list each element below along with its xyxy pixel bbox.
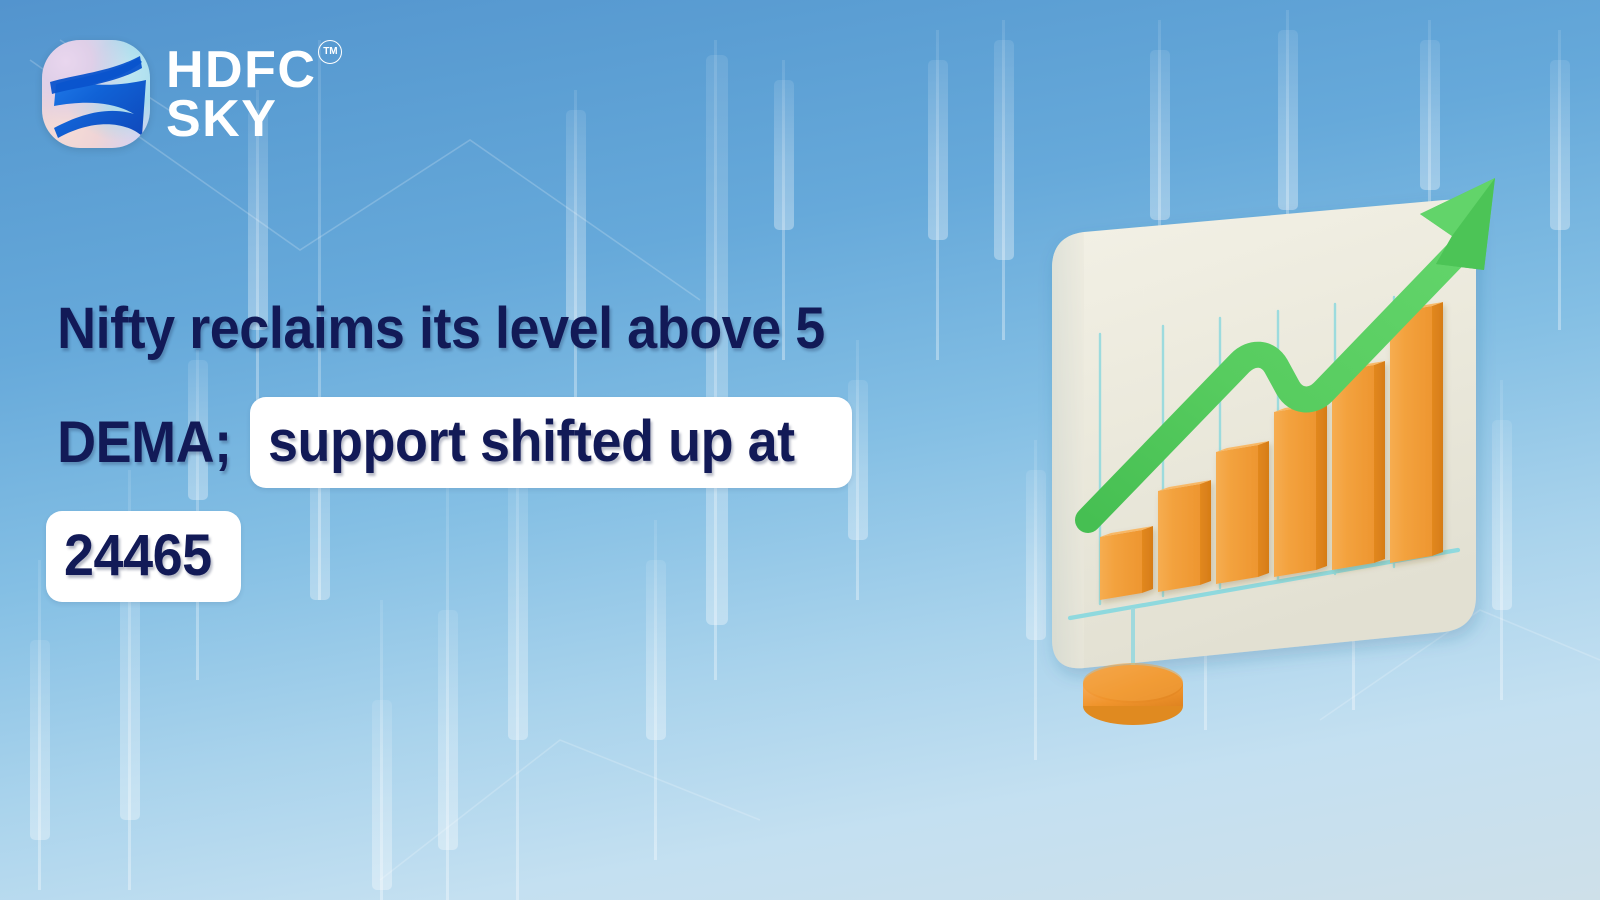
headline-line-3: 24465 <box>46 510 986 602</box>
chart-bar <box>1158 480 1211 592</box>
headline-line2-highlight-text: support shifted up at <box>268 408 795 475</box>
headline-line1-text: Nifty reclaims its level above 5 <box>46 295 825 362</box>
growth-chart-illustration <box>990 140 1550 740</box>
chart-bar <box>1216 441 1269 584</box>
brand-logo[interactable]: HDFC SKY TM <box>42 40 316 148</box>
headline-block: Nifty reclaims its level above 5 DEMA; s… <box>46 282 986 624</box>
chart-bar <box>1100 526 1153 600</box>
chart-bar <box>1390 302 1443 563</box>
brand-name-line1: HDFC <box>166 46 316 95</box>
brand-wordmark: HDFC SKY TM <box>166 44 316 144</box>
headline-highlight-chip-1: support shifted up at <box>250 397 852 488</box>
support-level-value: 24465 <box>64 522 212 589</box>
headline-line-1: Nifty reclaims its level above 5 <box>46 282 986 374</box>
hdfc-sky-swoosh-logo-icon <box>42 40 150 148</box>
headline-line-2: DEMA; support shifted up at <box>46 396 986 488</box>
headline-highlight-chip-2: 24465 <box>46 511 241 602</box>
headline-line2-plain-text: DEMA; <box>46 409 235 476</box>
brand-name-line2: SKY <box>166 95 316 144</box>
chart-bar <box>1274 401 1327 577</box>
trademark-icon: TM <box>318 40 342 64</box>
banner-root: HDFC SKY TM Nifty reclaims its level abo… <box>0 0 1600 900</box>
